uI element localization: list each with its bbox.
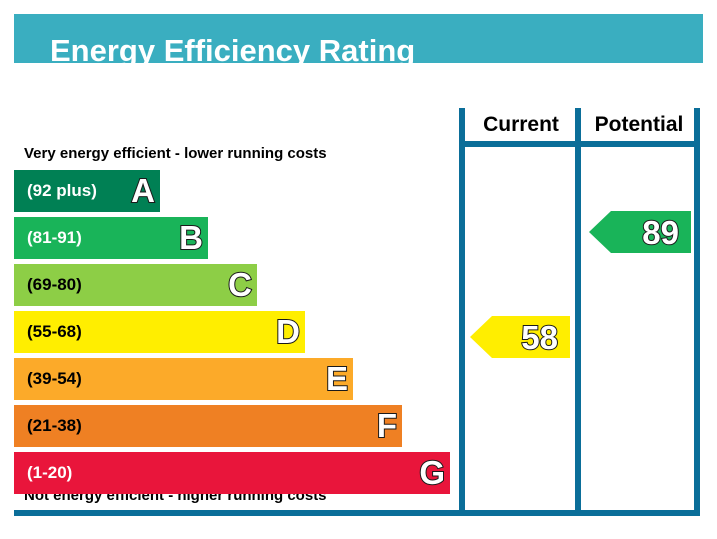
column-header-potential: Potential <box>582 113 696 137</box>
current-rating-value: 58 <box>521 321 558 354</box>
band-range-f: (21-38) <box>27 416 82 436</box>
column-header-underline <box>459 141 700 147</box>
band-letter-g: G <box>419 456 445 489</box>
energy-efficiency-rating-chart: Energy Efficiency Rating Current Potenti… <box>0 0 717 539</box>
band-range-a: (92 plus) <box>27 181 97 201</box>
band-letter-c: C <box>228 268 252 301</box>
band-row-b: (81-91)B <box>14 217 208 259</box>
band-letter-b: B <box>179 221 203 254</box>
column-divider-middle <box>575 108 581 516</box>
page-title: Energy Efficiency Rating <box>50 33 415 69</box>
caption-very-efficient: Very energy efficient - lower running co… <box>24 145 327 162</box>
band-row-f: (21-38)F <box>14 405 402 447</box>
title-bar: Energy Efficiency Rating <box>14 14 703 63</box>
band-letter-d: D <box>276 315 300 348</box>
band-row-c: (69-80)C <box>14 264 257 306</box>
band-range-g: (1-20) <box>27 463 72 483</box>
band-row-d: (55-68)D <box>14 311 305 353</box>
chart-bottom-rule <box>14 510 700 516</box>
band-letter-a: A <box>131 174 155 207</box>
band-row-a: (92 plus)A <box>14 170 160 212</box>
band-range-c: (69-80) <box>27 275 82 295</box>
band-row-e: (39-54)E <box>14 358 353 400</box>
potential-rating-arrow: 89 <box>589 211 691 253</box>
potential-rating-value: 89 <box>642 216 679 249</box>
band-range-d: (55-68) <box>27 322 82 342</box>
column-divider-right <box>694 108 700 516</box>
band-letter-e: E <box>326 362 348 395</box>
band-range-e: (39-54) <box>27 369 82 389</box>
column-header-current: Current <box>466 113 576 137</box>
column-divider-left <box>459 108 465 516</box>
band-letter-f: F <box>377 409 397 442</box>
band-range-b: (81-91) <box>27 228 82 248</box>
current-rating-arrow: 58 <box>470 316 570 358</box>
band-row-g: (1-20)G <box>14 452 450 494</box>
